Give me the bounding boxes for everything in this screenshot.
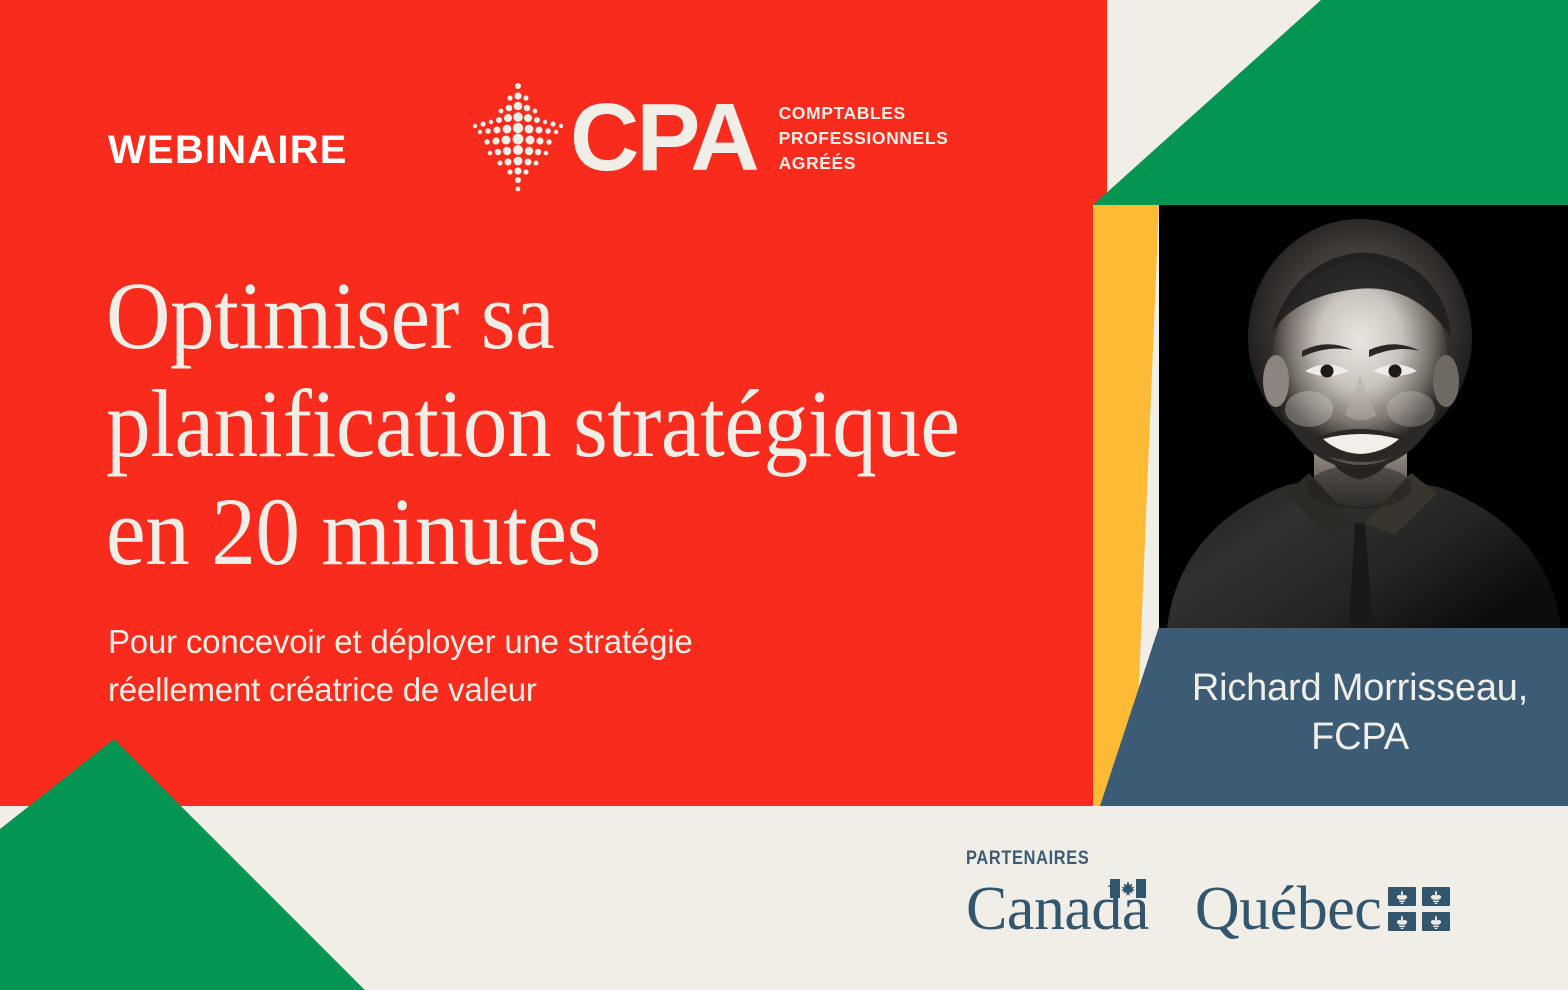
- headline-line-1: Optimiser sa: [106, 262, 971, 370]
- headline: Optimiser sa planification stratégique e…: [106, 262, 971, 586]
- speaker-credential-text: FCPA: [1160, 713, 1560, 762]
- headline-line-2: planification stratégique: [106, 370, 971, 478]
- partners-section: PARTENAIRES Canada Québec: [966, 848, 1486, 940]
- speaker-name: Richard Morrisseau, FCPA: [1160, 664, 1560, 762]
- green-triangle-top-right: [1093, 0, 1568, 205]
- headline-line-3: en 20 minutes: [106, 478, 971, 586]
- subtitle-line-2: réellement créatrice de valeur: [108, 666, 948, 714]
- partners-logos: Canada Québec: [966, 878, 1486, 940]
- cpa-full-name-line-1: COMPTABLES: [779, 101, 949, 126]
- subtitle: Pour concevoir et déployer une stratégie…: [108, 618, 948, 714]
- cpa-maple-leaf-dots-icon: [470, 80, 566, 196]
- webinar-poster: WEBINAIRE: [0, 0, 1568, 990]
- cpa-full-name: COMPTABLES PROFESSIONNELS AGRÉÉS: [779, 101, 949, 176]
- partners-label: PARTENAIRES: [966, 848, 1413, 870]
- subtitle-line-1: Pour concevoir et déployer une stratégie: [108, 618, 948, 666]
- quebec-wordmark-text: Québec: [1195, 878, 1381, 940]
- speaker-name-text: Richard Morrisseau,: [1160, 664, 1560, 713]
- cpa-logo: CPA COMPTABLES PROFESSIONNELS AGRÉÉS: [470, 78, 948, 198]
- quebec-wordmark: Québec: [1195, 878, 1450, 940]
- canada-wordmark: Canada: [966, 878, 1149, 940]
- cpa-acronym: CPA: [570, 90, 757, 186]
- event-type-label: WEBINAIRE: [108, 128, 348, 173]
- canada-flag-icon: [1110, 879, 1146, 898]
- quebec-fleur-de-lis-flag-icon: [1388, 887, 1450, 931]
- speaker-photo: [1159, 205, 1568, 628]
- cpa-full-name-line-3: AGRÉÉS: [779, 151, 949, 176]
- cpa-full-name-line-2: PROFESSIONNELS: [779, 126, 949, 151]
